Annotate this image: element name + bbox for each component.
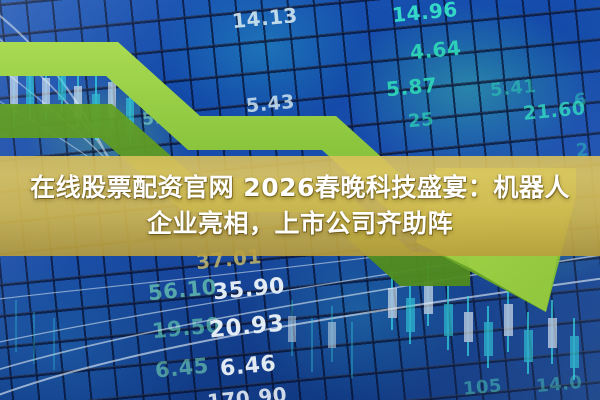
headline-block: 在线股票配资官网 2026春晚科技盛宴：机器人 企业亮相，上市公司齐助阵 [0, 156, 600, 256]
headline-line-2: 企业亮相，上市公司齐助阵 [147, 207, 453, 241]
banner-image: 14.1314.964.645.875.435.425.4121.602522.… [0, 0, 600, 400]
headline-line-1: 在线股票配资官网 2026春晚科技盛宴：机器人 [30, 171, 570, 205]
